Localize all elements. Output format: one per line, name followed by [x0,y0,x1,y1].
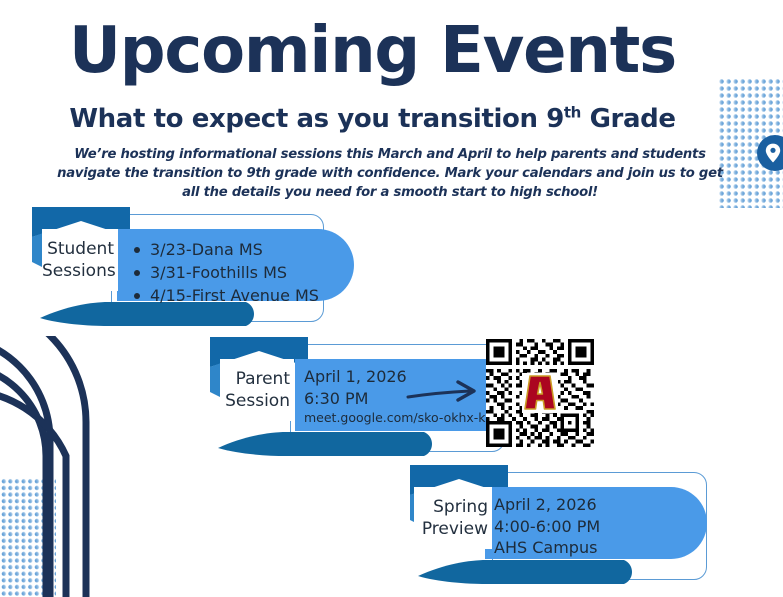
subtitle-post: Grade [581,104,676,134]
poster-header: Upcoming Events What to expect as you tr… [0,0,783,205]
poster-canvas: Upcoming Events What to expect as you tr… [0,0,783,597]
label-line-1: Student [42,238,114,260]
list-item: 4/15-First Avenue MS [133,284,354,307]
session-list: 3/23-Dana MS 3/31-Foothills MS 4/15-Firs… [117,229,354,316]
event-content-student-sessions: 3/23-Dana MS 3/31-Foothills MS 4/15-Firs… [117,229,354,301]
label-line-2: Sessions [42,260,114,282]
event-time: 4:00-6:00 PM [494,516,707,538]
event-label-student-sessions: Student Sessions [42,229,118,291]
page-title: Upcoming Events [0,16,745,86]
subtitle-pre: What to expect as you transition 9 [69,104,564,134]
concentric-arcs-icon [0,336,102,597]
subtitle-superscript: th [564,103,581,121]
event-content-spring-preview: April 2, 2026 4:00-6:00 PM AHS Campus [485,487,707,559]
event-label-parent-session: Parent Session [220,359,294,421]
session-details: April 2, 2026 4:00-6:00 PM AHS Campus [485,487,707,566]
arrow-right-icon [406,378,478,406]
intro-paragraph: We’re hosting informational sessions thi… [52,145,728,202]
page-subtitle: What to expect as you transition 9th Gra… [0,104,745,134]
label-line-2: Preview [414,518,488,540]
qr-code[interactable] [486,339,594,447]
block-a-icon [524,375,556,411]
list-item: 3/23-Dana MS [133,238,354,261]
label-line-2: Session [220,390,290,412]
label-line-1: Spring [414,496,488,518]
event-meeting-link[interactable]: meet.google.com/sko-okhx-kic [304,409,487,427]
event-date: April 2, 2026 [494,494,707,516]
event-label-spring-preview: Spring Preview [414,487,492,549]
arizona-a-logo [522,373,558,413]
label-line-1: Parent [220,368,290,390]
event-location: AHS Campus [494,537,707,559]
list-item: 3/31-Foothills MS [133,261,354,284]
